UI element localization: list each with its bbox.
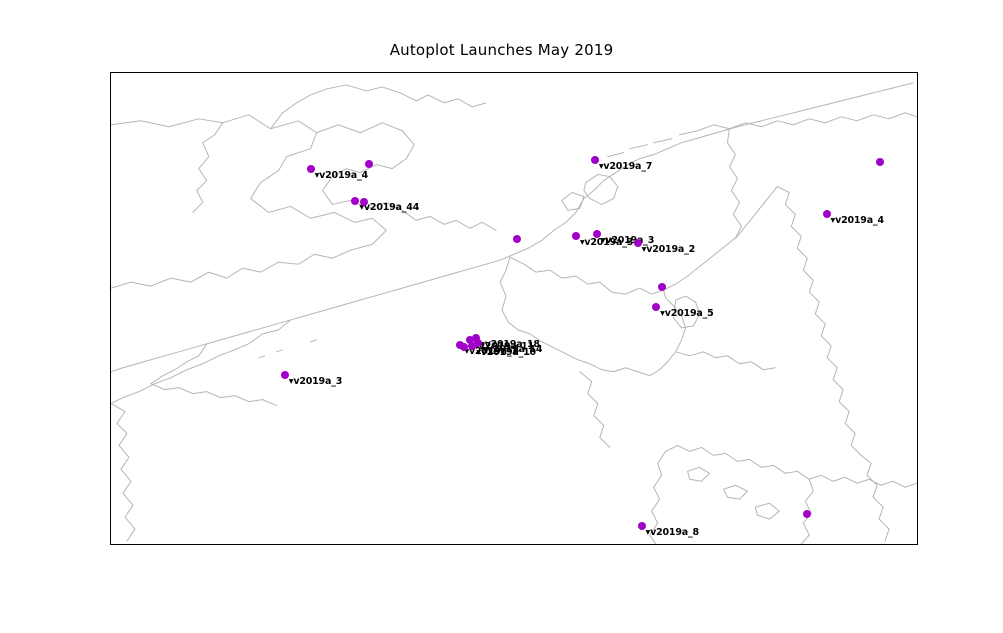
scatter-point-label: ▾v2019a_4: [315, 170, 368, 181]
scatter-point[interactable]: [591, 156, 599, 164]
scatter-point-label: ▾v2019a_8: [646, 527, 699, 538]
scatter-point[interactable]: [638, 522, 646, 530]
x-minor-tick: [802, 544, 803, 545]
y-tick: [110, 482, 111, 483]
y-minor-tick: [110, 226, 111, 227]
scatter-point[interactable]: [593, 230, 601, 238]
x-minor-tick: [510, 544, 511, 545]
scatter-point[interactable]: [876, 158, 884, 166]
scatter-point[interactable]: [281, 371, 289, 379]
y-minor-tick: [110, 329, 111, 330]
plot-area: 5452504846-4-20246810▾v2019a_4▾v2019a_44…: [110, 72, 918, 545]
x-tick: [754, 544, 755, 545]
x-minor-tick: [218, 544, 219, 545]
scatter-point[interactable]: [803, 510, 811, 518]
y-tick: [110, 73, 111, 74]
x-tick: [851, 544, 852, 545]
scatter-point[interactable]: [658, 283, 666, 291]
y-minor-tick: [110, 533, 111, 534]
scatter-point[interactable]: [634, 239, 642, 247]
scatter-point[interactable]: [360, 198, 368, 206]
x-minor-tick: [900, 544, 901, 545]
scatter-point-label: ▾v2019a_5: [660, 308, 713, 319]
scatter-point[interactable]: [513, 235, 521, 243]
x-tick: [169, 544, 170, 545]
y-minor-tick: [110, 431, 111, 432]
scatter-point-label: ▾v2019a_10: [476, 347, 536, 358]
scatter-point[interactable]: [307, 165, 315, 173]
x-minor-tick: [705, 544, 706, 545]
figure-canvas: Autoplot Launches May 2019: [0, 0, 1003, 633]
scatter-point[interactable]: [351, 197, 359, 205]
scatter-point[interactable]: [823, 210, 831, 218]
x-tick: [461, 544, 462, 545]
x-tick: [364, 544, 365, 545]
scatter-point[interactable]: [468, 342, 476, 350]
scatter-point-label: ▾v2019a_3: [289, 376, 342, 387]
coastline-map: [111, 73, 917, 544]
scatter-point[interactable]: [460, 343, 468, 351]
y-tick: [110, 278, 111, 279]
x-tick: [559, 544, 560, 545]
x-minor-tick: [315, 544, 316, 545]
x-minor-tick: [413, 544, 414, 545]
x-minor-tick: [121, 544, 122, 545]
y-tick: [110, 175, 111, 176]
scatter-point[interactable]: [365, 160, 373, 168]
x-tick: [267, 544, 268, 545]
page-title: Autoplot Launches May 2019: [0, 41, 1003, 59]
scatter-point-label: ▾v2019a_44: [359, 202, 419, 213]
y-minor-tick: [110, 124, 111, 125]
scatter-point-label: ▾v2019a_4: [831, 215, 884, 226]
scatter-point[interactable]: [652, 303, 660, 311]
scatter-point-label: ▾v2019a_2: [642, 244, 695, 255]
scatter-point[interactable]: [572, 232, 580, 240]
x-minor-tick: [607, 544, 608, 545]
x-tick: [656, 544, 657, 545]
y-tick: [110, 380, 111, 381]
scatter-point-label: ▾v2019a_7: [599, 161, 652, 172]
